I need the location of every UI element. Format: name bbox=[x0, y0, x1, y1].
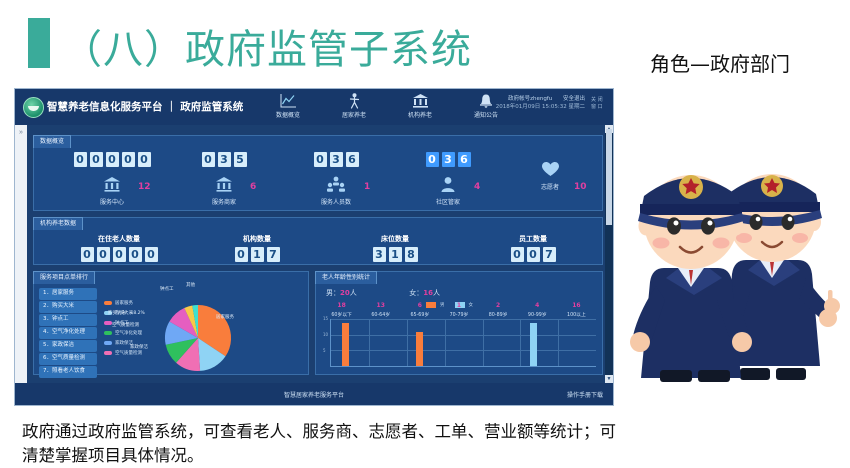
legend-label: 空气净化处理 bbox=[115, 330, 142, 336]
vertical-scrollbar[interactable]: ▲ ▼ bbox=[605, 125, 613, 383]
legend-label: 空气质量检测 bbox=[115, 350, 142, 356]
user-icon bbox=[398, 173, 498, 195]
title-accent-bar bbox=[28, 18, 50, 68]
scrollbar-thumb[interactable] bbox=[606, 129, 612, 225]
bar-category-labels: 60岁以下 60-64岁 65-69岁 70-79岁 80-89岁 90-99岁… bbox=[322, 311, 596, 318]
slide-caption: 政府通过政府监管系统，可查看老人、服务商、志愿者、工单、营业额等统计；可清楚掌握… bbox=[22, 420, 622, 468]
axis-tick-label: 10 bbox=[323, 332, 328, 337]
stat-badge: 6 bbox=[250, 182, 256, 192]
list-item[interactable]: 6．空气质量检测 bbox=[39, 353, 97, 365]
male-unit: 人 bbox=[350, 289, 357, 297]
role-label: 角色—政府部门 bbox=[650, 48, 790, 77]
legend-swatch bbox=[104, 321, 112, 325]
stat-badge: 4 bbox=[474, 182, 480, 192]
pie-annotation: 钟点工 bbox=[160, 286, 174, 292]
ranking-list: 1．居家服务 2．购买大米 3．钟点工 4．空气净化处理 5．家政保洁 6．空气… bbox=[39, 288, 97, 379]
team-icon bbox=[286, 173, 386, 195]
main-nav: 数据概览 居家养老 机构养老 bbox=[265, 92, 509, 119]
nav-item-home-care[interactable]: 居家养老 bbox=[331, 92, 377, 119]
bank-icon bbox=[174, 173, 274, 195]
axis-tick-label: 90-99岁 bbox=[518, 311, 557, 318]
inst-stat-residents[interactable]: 在住老人数量 00000 bbox=[64, 234, 174, 262]
bar-value: 2 bbox=[479, 302, 518, 309]
female-unit: 人 bbox=[433, 289, 440, 297]
stat-digits: 036 bbox=[398, 152, 498, 167]
dashboard-footer: 智慧居家养老服务平台 操作手册下载 bbox=[15, 383, 613, 405]
inst-stat-beds[interactable]: 床位数量 318 bbox=[340, 234, 450, 262]
gender-summary: 男：20人 女：16人 bbox=[326, 288, 440, 298]
panel-service-ranking: 服务项目点单排行 1．居家服务 2．购买大米 3．钟点工 4．空气净化处理 5．… bbox=[33, 271, 309, 375]
gridline bbox=[407, 319, 408, 366]
panel-institution-data: 机构养老数据 在住老人数量 00000 机构数量 017 床位数量 318 bbox=[33, 217, 603, 265]
male-label: 男： bbox=[326, 289, 340, 297]
dashboard-header: 智慧养老信息化服务平台 ｜ 政府监管系统 数据概览 居家养老 bbox=[15, 89, 613, 125]
axis-tick-label: 5 bbox=[323, 348, 326, 353]
stat-label: 服务中心 bbox=[62, 197, 162, 206]
stat-badge: 1 bbox=[364, 182, 370, 192]
stat-digits: 036 bbox=[286, 152, 386, 167]
panel-data-overview: 数据概览 00000 服务中心 12 035 服务商家 6 bbox=[33, 135, 603, 211]
list-item[interactable]: 4．空气净化处理 bbox=[39, 327, 97, 339]
gridline bbox=[331, 335, 596, 336]
logout-link[interactable]: 安全退出 bbox=[563, 96, 585, 102]
stat-label: 服务人员数 bbox=[286, 197, 386, 206]
bar-value: 1 bbox=[439, 302, 478, 309]
pie-chart: 居家服务 购买大米：18.2% 空气质量检测 家政保洁 钟点工 其他 bbox=[152, 292, 244, 384]
panel-tab-label: 服务项目点单排行 bbox=[33, 271, 95, 284]
bar-value-labels: 18 13 6 1 2 4 16 bbox=[322, 302, 596, 309]
scroll-down-arrow-icon[interactable]: ▼ bbox=[605, 375, 613, 383]
bar-female-90to99[interactable] bbox=[530, 323, 537, 366]
list-item[interactable]: 2．购买大米 bbox=[39, 301, 97, 313]
mascot-illustration bbox=[620, 110, 845, 400]
panel-age-gender: 老人年龄性别统计 男：20人 女：16人 男 女 18 13 6 1 2 4 1… bbox=[315, 271, 603, 375]
axis-tick-label: 15 bbox=[323, 316, 328, 321]
legend-swatch bbox=[104, 301, 112, 305]
account-name: 政府帐号zhengfu bbox=[508, 96, 552, 102]
bank-icon bbox=[397, 92, 443, 109]
list-item[interactable]: 5．家政保洁 bbox=[39, 340, 97, 352]
platform-logo-icon bbox=[23, 97, 44, 118]
page-title: （八）政府监管子系统 bbox=[62, 17, 472, 75]
stat-community-steward[interactable]: 036 社区管家 4 bbox=[398, 152, 498, 206]
bar-male-65to69[interactable] bbox=[416, 332, 423, 366]
axis-tick-label: 65-69岁 bbox=[400, 311, 439, 318]
bar-value: 13 bbox=[361, 302, 400, 309]
legend-swatch bbox=[104, 331, 112, 335]
inst-digits: 007 bbox=[478, 247, 588, 262]
server-datetime: 2018年01月09日 15:05:32 星期二 bbox=[496, 103, 585, 111]
nav-item-institution-care[interactable]: 机构养老 bbox=[397, 92, 443, 119]
gridline bbox=[520, 319, 521, 366]
bar-male-under60[interactable] bbox=[342, 323, 349, 366]
inst-stat-institutions[interactable]: 机构数量 017 bbox=[202, 234, 312, 262]
pie-annotation: 居家服务 bbox=[216, 314, 234, 320]
list-item[interactable]: 7．照看老人饮食 bbox=[39, 366, 97, 378]
pie-svg bbox=[152, 292, 244, 384]
nav-label: 数据概览 bbox=[265, 110, 311, 119]
heart-icon bbox=[504, 158, 596, 180]
stat-service-staff[interactable]: 036 服务人员数 1 bbox=[286, 152, 386, 206]
stat-label: 社区管家 bbox=[398, 197, 498, 206]
axis-tick-label: 70-79岁 bbox=[439, 311, 478, 318]
inst-label: 在住老人数量 bbox=[64, 234, 174, 244]
male-count: 20 bbox=[340, 289, 350, 297]
legend-swatch bbox=[104, 341, 112, 345]
person-icon bbox=[331, 92, 377, 109]
stat-service-merchant[interactable]: 035 服务商家 6 bbox=[174, 152, 274, 206]
legend-item[interactable]: 空气净化处理 bbox=[104, 328, 142, 338]
panel-tab-label: 机构养老数据 bbox=[33, 217, 83, 230]
pie-annotation: 空气质量检测 bbox=[112, 322, 139, 328]
legend-item[interactable]: 居家服务 bbox=[104, 298, 142, 308]
list-item[interactable]: 1．居家服务 bbox=[39, 288, 97, 300]
panel-tab-label: 数据概览 bbox=[33, 135, 71, 148]
stat-digits: 00000 bbox=[62, 152, 162, 167]
gridline bbox=[331, 319, 596, 320]
inst-digits: 00000 bbox=[64, 247, 174, 262]
legend-label: 居家服务 bbox=[115, 300, 133, 306]
stat-badge: 10 bbox=[574, 182, 587, 192]
bar-value: 6 bbox=[400, 302, 439, 309]
nav-label: 机构养老 bbox=[397, 110, 443, 119]
inst-digits: 017 bbox=[202, 247, 312, 262]
gridline bbox=[369, 319, 370, 366]
account-area: 政府帐号zhengfu 安全退出 2018年01月09日 15:05:32 星期… bbox=[496, 95, 585, 112]
inst-label: 员工数量 bbox=[478, 234, 588, 244]
bar-value: 4 bbox=[518, 302, 557, 309]
stat-volunteer[interactable]: 志愿者 10 bbox=[504, 152, 596, 191]
inst-label: 机构数量 bbox=[202, 234, 312, 244]
bar-value: 16 bbox=[557, 302, 596, 309]
inst-label: 床位数量 bbox=[340, 234, 450, 244]
slide-root: （八）政府监管子系统 角色—政府部门 智慧养老信息化服务平台 ｜ 政府监管系统 … bbox=[0, 0, 850, 467]
stat-label: 服务商家 bbox=[174, 197, 274, 206]
stat-service-center[interactable]: 00000 服务中心 12 bbox=[62, 152, 162, 206]
gridline bbox=[483, 319, 484, 366]
account-row: 政府帐号zhengfu 安全退出 bbox=[496, 95, 585, 103]
stat-badge: 12 bbox=[138, 182, 151, 192]
gridline bbox=[445, 319, 446, 366]
stat-digits: 035 bbox=[174, 152, 274, 167]
manual-download-link[interactable]: 操作手册下载 bbox=[567, 390, 603, 399]
axis-tick-label: 60-64岁 bbox=[361, 311, 400, 318]
sidebar-toggle-button[interactable]: » bbox=[15, 125, 27, 383]
inst-digits: 318 bbox=[340, 247, 450, 262]
panel-tab-label: 老人年龄性别统计 bbox=[315, 271, 377, 284]
female-label: 女： bbox=[409, 289, 423, 297]
dashboard-screenshot: 智慧养老信息化服务平台 ｜ 政府监管系统 数据概览 居家养老 bbox=[14, 88, 614, 406]
axis-tick-label: 80-89岁 bbox=[479, 311, 518, 318]
close-window-link[interactable]: 关 闭 窗 口 bbox=[591, 97, 607, 111]
nav-label: 居家养老 bbox=[331, 110, 377, 119]
pie-annotation: 购买大米：18.2% bbox=[108, 310, 145, 316]
pie-annotation: 其他 bbox=[186, 282, 195, 288]
list-item[interactable]: 3．钟点工 bbox=[39, 314, 97, 326]
axis-tick-label: 100以上 bbox=[557, 311, 596, 318]
pointing-hand bbox=[824, 290, 840, 314]
pie-annotation: 家政保洁 bbox=[130, 344, 148, 350]
inst-stat-staff[interactable]: 员工数量 007 bbox=[478, 234, 588, 262]
footer-platform-name: 智慧居家养老服务平台 bbox=[284, 390, 344, 399]
female-count: 16 bbox=[423, 289, 433, 297]
nav-item-data-overview[interactable]: 数据概览 bbox=[265, 92, 311, 119]
bar-value: 18 bbox=[322, 302, 361, 309]
gridline bbox=[331, 350, 596, 351]
police-mascots-svg bbox=[620, 110, 845, 400]
gridline bbox=[558, 319, 559, 366]
legend-swatch bbox=[104, 351, 112, 355]
chart-icon bbox=[265, 92, 311, 109]
platform-brand-title: 智慧养老信息化服务平台 ｜ 政府监管系统 bbox=[47, 99, 243, 114]
bar-chart-plot: 15 10 5 bbox=[330, 319, 596, 367]
